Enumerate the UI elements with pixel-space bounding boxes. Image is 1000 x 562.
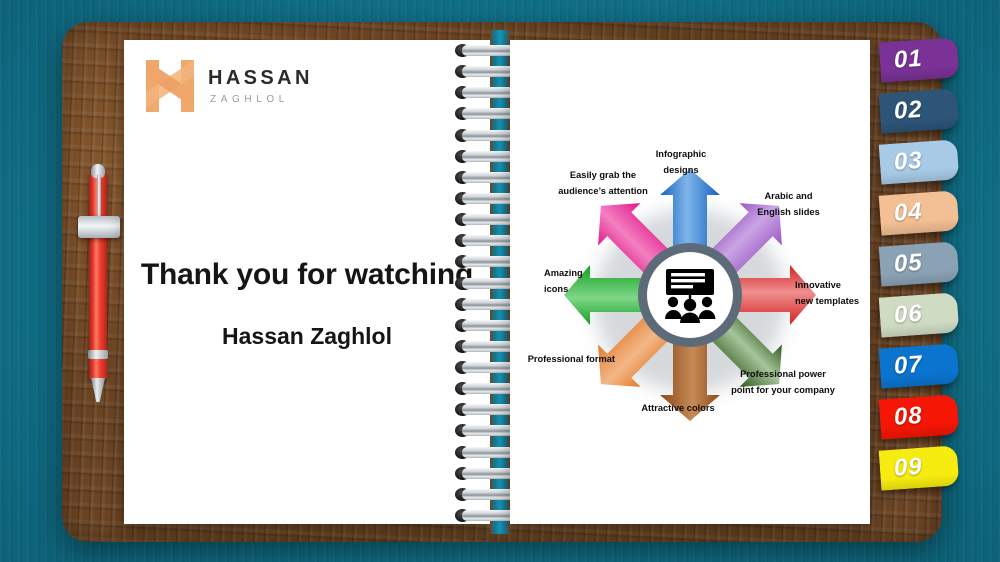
thank-you-heading: Thank you for watching (124, 258, 490, 292)
slide-canvas: HASSAN ZAGHLOL Thank you for watching Ha… (0, 0, 1000, 562)
left-page: HASSAN ZAGHLOL Thank you for watching Ha… (124, 40, 490, 524)
chapter-tab-number: 04 (893, 198, 924, 228)
logo-wordmark: HASSAN ZAGHLOL (208, 68, 313, 105)
chapter-tab-05[interactable]: 05 (879, 241, 960, 286)
chapter-tab-number: 01 (893, 45, 924, 75)
pen-holder-clamp (78, 216, 120, 238)
pen-tip (91, 378, 105, 402)
chapter-tab-number: 06 (893, 300, 924, 330)
pen-ring (88, 350, 108, 359)
logo-subtitle: ZAGHLOL (210, 95, 313, 105)
chapter-tabs[interactable]: 010203040506070809 (880, 40, 1000, 520)
chapter-tab-number: 09 (893, 453, 924, 483)
spoke-label-southwest: Professional format (495, 351, 615, 367)
chapter-tab-01[interactable]: 01 (879, 37, 960, 82)
spoke-label-northeast: Arabic and English slides (736, 188, 841, 220)
spoke-label-northwest: Easily grab the audience’s attention (538, 167, 668, 199)
chapter-tab-number: 05 (893, 249, 924, 279)
chapter-tab-number: 08 (893, 402, 924, 432)
chapter-tab-number: 07 (893, 351, 924, 381)
h-monogram-logo-icon (144, 58, 200, 114)
right-page: Infographic designs Arabic and English s… (510, 40, 870, 524)
red-ballpoint-pen (84, 150, 112, 402)
chapter-tab-09[interactable]: 09 (879, 445, 960, 490)
radial-arrow-diagram: Infographic designs Arabic and English s… (510, 40, 870, 524)
spoke-label-southeast: Professional power point for your compan… (718, 366, 848, 398)
chapter-tab-07[interactable]: 07 (879, 343, 960, 388)
chapter-tab-02[interactable]: 02 (879, 88, 960, 133)
logo-name: HASSAN (208, 68, 313, 88)
chapter-tab-04[interactable]: 04 (879, 190, 960, 235)
chapter-tab-06[interactable]: 06 (879, 292, 960, 337)
chapter-tab-08[interactable]: 08 (879, 394, 960, 439)
brand-logo: HASSAN ZAGHLOL (144, 58, 384, 120)
chapter-tab-number: 03 (893, 147, 924, 177)
author-name: Hassan Zaghlol (124, 323, 490, 350)
chapter-tab-03[interactable]: 03 (879, 139, 960, 184)
spoke-label-south: Attractive colors (623, 400, 733, 416)
chapter-tab-number: 02 (893, 96, 924, 126)
spoke-label-west: Amazing icons (544, 265, 624, 297)
